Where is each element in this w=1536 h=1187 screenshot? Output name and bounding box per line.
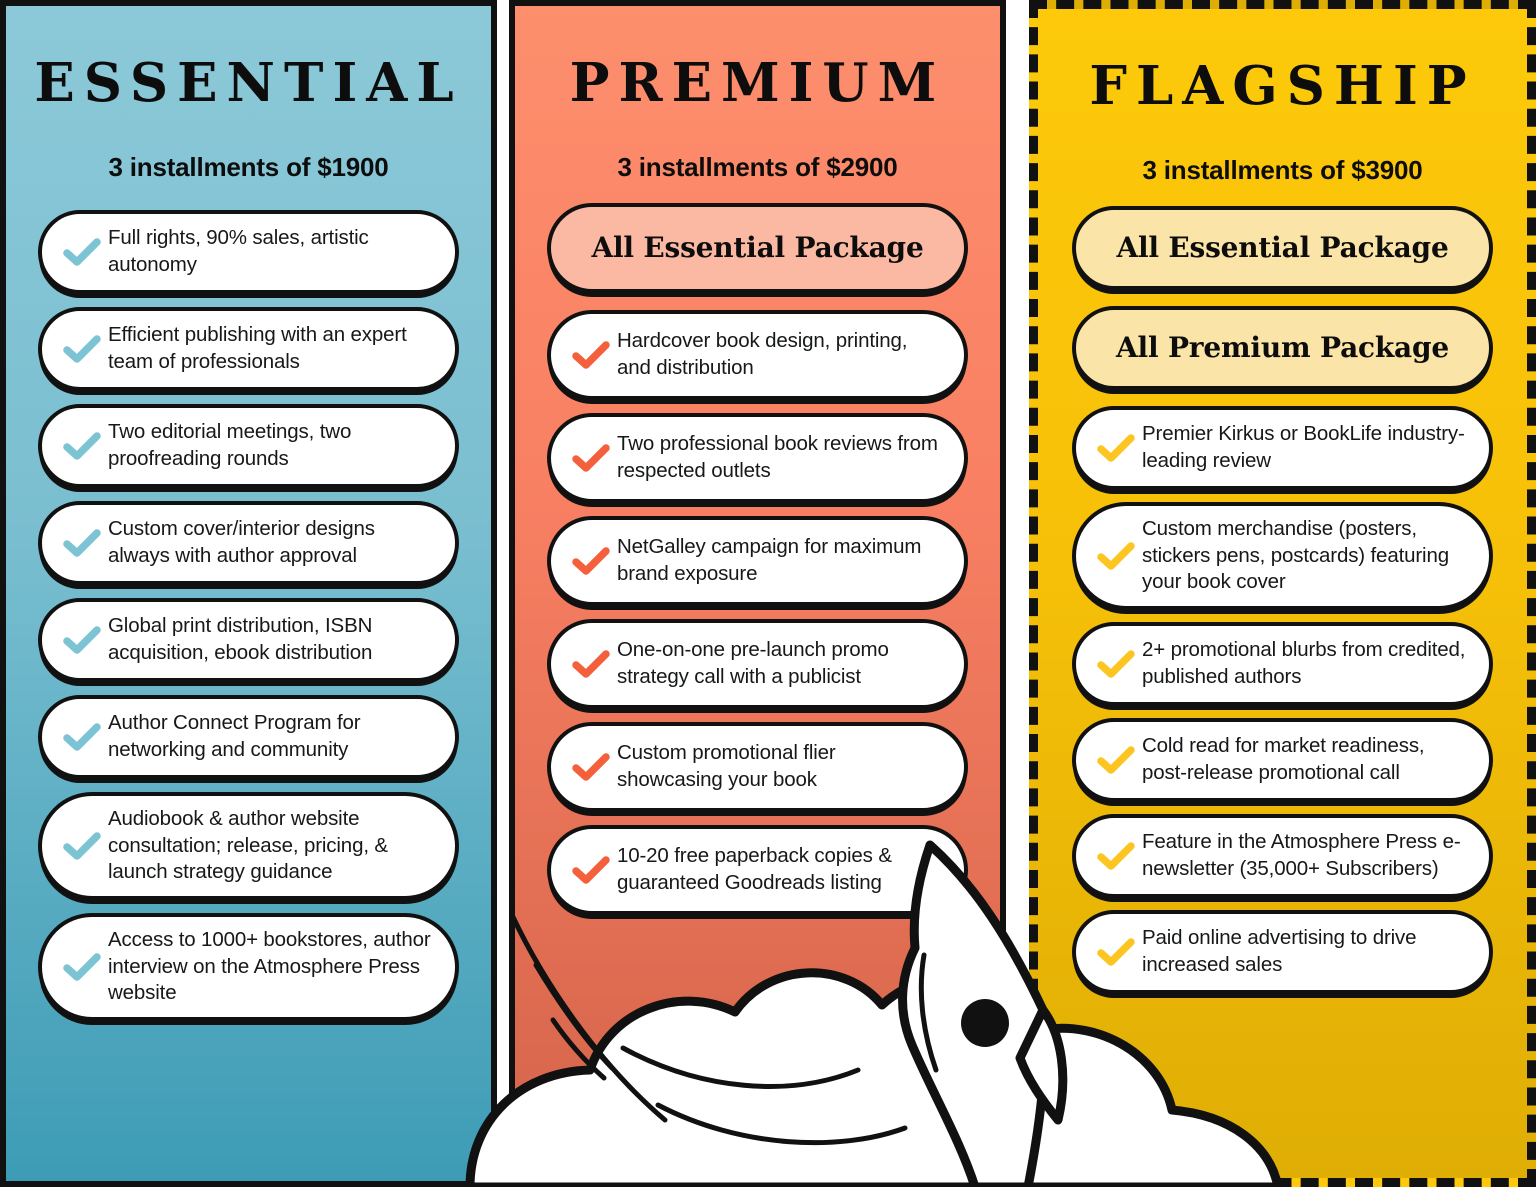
feature-label: 10-20 free paperback copies & guaranteed… [617, 843, 946, 896]
feature-label: One-on-one pre-launch promo strategy cal… [617, 637, 946, 690]
feature-label: Access to 1000+ bookstores, author inter… [108, 927, 437, 1007]
feature-label: Premier Kirkus or BookLife industry-lead… [1142, 421, 1471, 474]
package-column-essential: ESSENTIAL 3 installments of $1900 Full r… [0, 0, 497, 1187]
feature-label: Paid online advertising to drive increas… [1142, 925, 1471, 978]
feature-item: Custom merchandise (posters, stickers pe… [1072, 502, 1493, 610]
package-price-premium: 3 installments of $2900 [515, 152, 1000, 183]
feature-label: Efficient publishing with an expert team… [108, 322, 437, 375]
check-icon [565, 850, 617, 890]
feature-item: Efficient publishing with an expert team… [38, 307, 459, 391]
check-icon [56, 329, 108, 369]
check-icon [1090, 740, 1142, 780]
check-icon [565, 747, 617, 787]
feature-item: Audiobook & author website consultation;… [38, 792, 459, 900]
check-icon [565, 335, 617, 375]
feature-item: Custom promotional flier showcasing your… [547, 722, 968, 812]
feature-item: Hardcover book design, printing, and dis… [547, 310, 968, 400]
feature-item: Feature in the Atmosphere Press e-newsle… [1072, 814, 1493, 898]
check-icon [1090, 428, 1142, 468]
feature-label: Author Connect Program for networking an… [108, 710, 437, 763]
package-banner-label: All Essential Package [591, 233, 923, 264]
check-icon [56, 826, 108, 866]
package-column-premium: PREMIUM 3 installments of $2900 All Esse… [509, 0, 1006, 1187]
feature-list-flagship: All Essential PackageAll Premium Package… [1038, 206, 1527, 994]
feature-item: Two professional book reviews from respe… [547, 413, 968, 503]
check-icon [1090, 644, 1142, 684]
package-banner-label: All Premium Package [1116, 333, 1449, 364]
package-banner-premium: All Essential Package [547, 203, 968, 293]
feature-item: Two editorial meetings, two proofreading… [38, 404, 459, 488]
check-icon [56, 232, 108, 272]
feature-list-essential: Full rights, 90% sales, artistic autonom… [6, 210, 491, 1021]
package-title-premium: PREMIUM [515, 52, 1000, 114]
package-price-flagship: 3 installments of $3900 [1038, 155, 1527, 186]
package-title-essential: ESSENTIAL [6, 52, 491, 114]
feature-item: NetGalley campaign for maximum brand exp… [547, 516, 968, 606]
feature-label: Global print distribution, ISBN acquisit… [108, 613, 437, 666]
feature-label: Custom promotional flier showcasing your… [617, 740, 946, 793]
feature-label: NetGalley campaign for maximum brand exp… [617, 534, 946, 587]
feature-item: 10-20 free paperback copies & guaranteed… [547, 825, 968, 915]
check-icon [1090, 836, 1142, 876]
feature-item: Author Connect Program for networking an… [38, 695, 459, 779]
feature-label: Hardcover book design, printing, and dis… [617, 328, 946, 381]
feature-item: Access to 1000+ bookstores, author inter… [38, 913, 459, 1021]
feature-label: Two editorial meetings, two proofreading… [108, 419, 437, 472]
feature-label: Feature in the Atmosphere Press e-newsle… [1142, 829, 1471, 882]
feature-item: Global print distribution, ISBN acquisit… [38, 598, 459, 682]
feature-item: Custom cover/interior designs always wit… [38, 501, 459, 585]
package-title-flagship: FLAGSHIP [1038, 55, 1527, 117]
check-icon [565, 438, 617, 478]
package-banner-label: All Essential Package [1116, 233, 1448, 264]
check-icon [1090, 932, 1142, 972]
package-column-flagship: FLAGSHIP 3 installments of $3900 All Ess… [1029, 0, 1536, 1187]
feature-list-premium: All Essential PackageHardcover book desi… [515, 203, 1000, 915]
feature-label: Audiobook & author website consultation;… [108, 806, 437, 886]
feature-item: Paid online advertising to drive increas… [1072, 910, 1493, 994]
check-icon [56, 620, 108, 660]
package-banner-flagship: All Essential Package [1072, 206, 1493, 290]
package-banner-flagship: All Premium Package [1072, 306, 1493, 390]
check-icon [565, 644, 617, 684]
pricing-comparison-poster: ESSENTIAL 3 installments of $1900 Full r… [0, 0, 1536, 1187]
feature-label: Full rights, 90% sales, artistic autonom… [108, 225, 437, 278]
check-icon [56, 947, 108, 987]
feature-item: Cold read for market readiness, post-rel… [1072, 718, 1493, 802]
feature-item: One-on-one pre-launch promo strategy cal… [547, 619, 968, 709]
package-price-essential: 3 installments of $1900 [6, 152, 491, 183]
feature-label: 2+ promotional blurbs from credited, pub… [1142, 637, 1471, 690]
check-icon [56, 523, 108, 563]
feature-label: Two professional book reviews from respe… [617, 431, 946, 484]
check-icon [565, 541, 617, 581]
feature-label: Custom cover/interior designs always wit… [108, 516, 437, 569]
feature-item: Full rights, 90% sales, artistic autonom… [38, 210, 459, 294]
feature-label: Custom merchandise (posters, stickers pe… [1142, 516, 1471, 596]
check-icon [56, 717, 108, 757]
feature-item: Premier Kirkus or BookLife industry-lead… [1072, 406, 1493, 490]
check-icon [1090, 536, 1142, 576]
check-icon [56, 426, 108, 466]
feature-item: 2+ promotional blurbs from credited, pub… [1072, 622, 1493, 706]
feature-label: Cold read for market readiness, post-rel… [1142, 733, 1471, 786]
